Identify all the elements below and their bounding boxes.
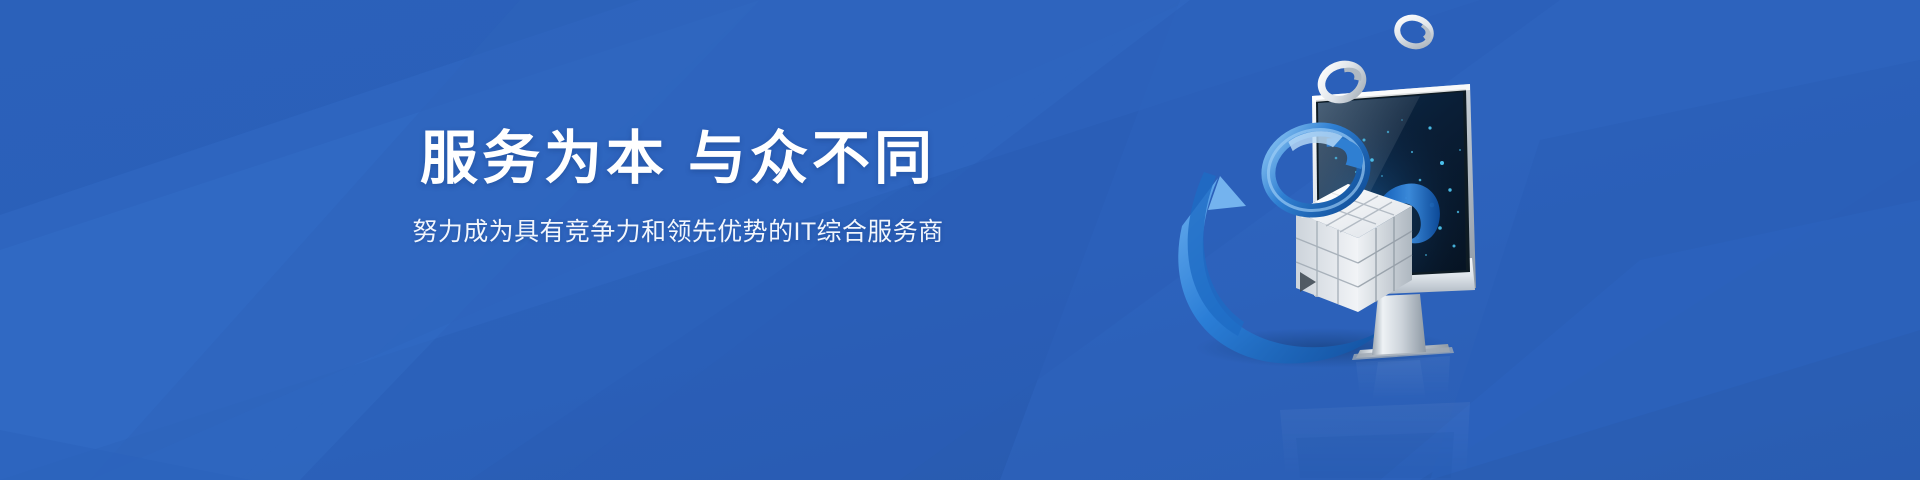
e-logo-small-upper: [1394, 13, 1435, 50]
banner-text-block: 服务为本 与众不同 努力成为具有竞争力和领先优势的IT综合服务商: [398, 128, 958, 247]
hero-banner: 服务为本 与众不同 努力成为具有竞争力和领先优势的IT综合服务商: [0, 0, 1920, 480]
monitor-reflection: [1280, 356, 1470, 478]
banner-subheadline: 努力成为具有竞争力和领先优势的IT综合服务商: [398, 217, 958, 247]
background-facets: [0, 0, 1920, 480]
monitor-stand-neck: [1372, 294, 1426, 355]
hero-illustration: [1120, 0, 1540, 480]
banner-headline: 服务为本 与众不同: [398, 128, 958, 191]
